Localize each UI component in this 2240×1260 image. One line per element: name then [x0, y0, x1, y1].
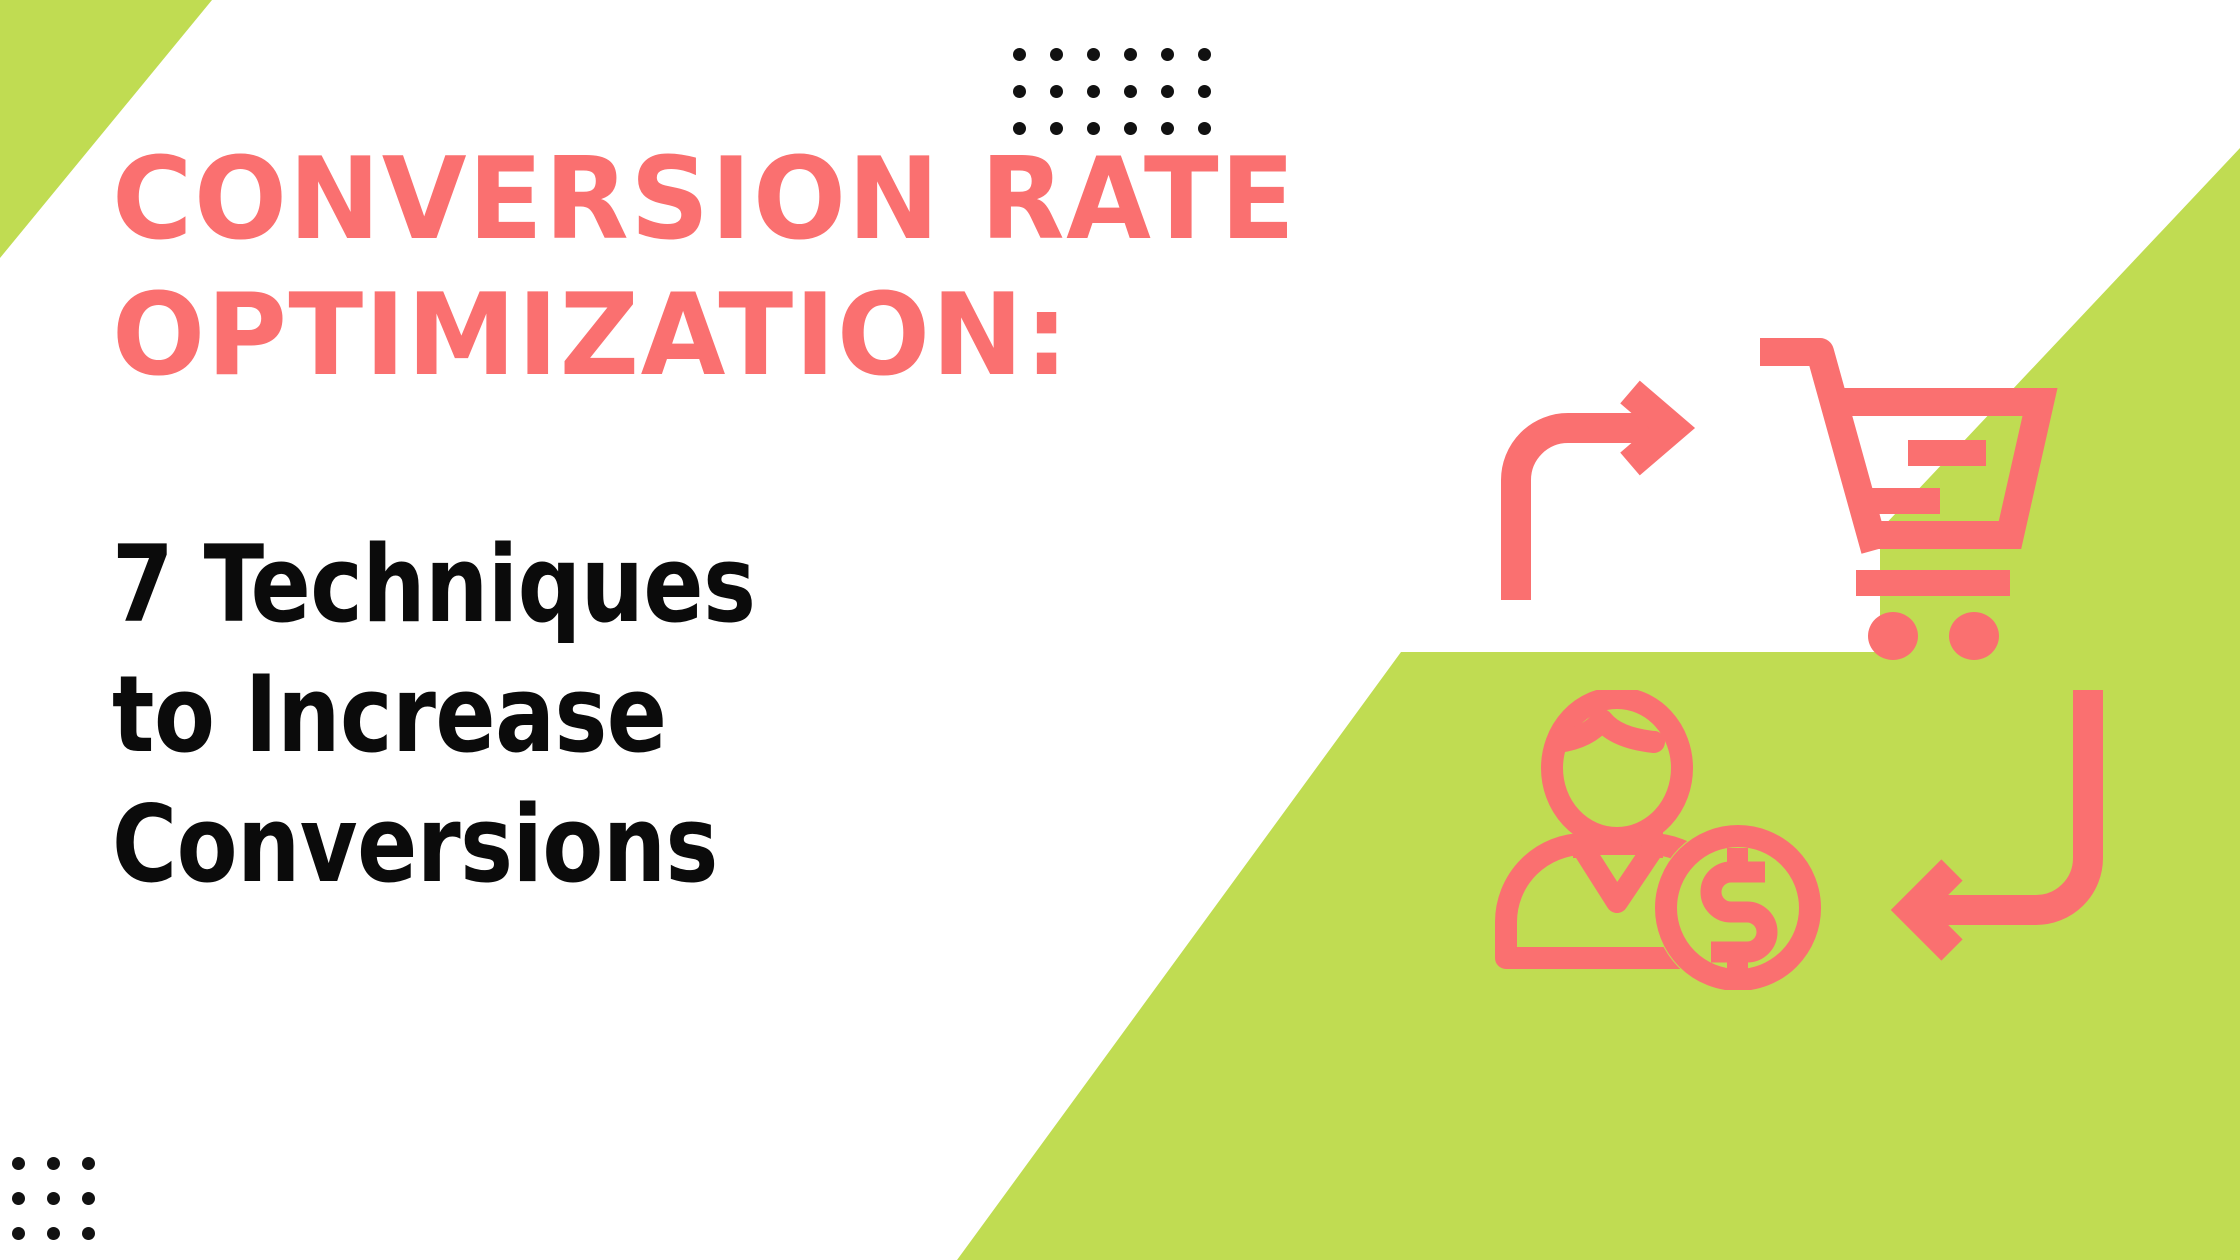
curved-arrow-down-left-icon [1912, 690, 2088, 950]
decor-dot [12, 1157, 25, 1170]
decor-dot [12, 1192, 25, 1205]
subtitle-line-1: 7 Techniques [112, 520, 1042, 650]
decor-dot [47, 1157, 60, 1170]
decor-dot [47, 1227, 60, 1240]
icon-cluster-upper [1480, 330, 2100, 750]
decor-dot [1161, 85, 1174, 98]
subtitle-block: 7 Techniques to Increase Conversions [112, 520, 1112, 910]
subtitle-line-2: to Increase [112, 650, 1042, 780]
decor-dot [1161, 48, 1174, 61]
decor-dot [82, 1157, 95, 1170]
decor-dot [1050, 85, 1063, 98]
decor-dot [82, 1192, 95, 1205]
person-with-dollar-coin-icon [1506, 698, 1822, 990]
headline-line-1: CONVERSION RATE [112, 140, 1179, 258]
decor-dot [82, 1227, 95, 1240]
dot-grid-bottom [12, 1157, 117, 1260]
decor-dot [1124, 48, 1137, 61]
headline-block: CONVERSION RATE OPTIMIZATION: [112, 140, 1212, 394]
decor-dot [1198, 85, 1211, 98]
shopping-cart-icon [1760, 352, 2040, 660]
decor-dot [1087, 85, 1100, 98]
headline-line-2: OPTIMIZATION: [112, 276, 1179, 394]
decor-dot [47, 1192, 60, 1205]
curved-arrow-right-icon [1516, 392, 1672, 600]
icon-cluster-lower [1480, 690, 2120, 990]
subtitle-line-3: Conversions [112, 780, 1042, 910]
decor-dot [1013, 48, 1026, 61]
decor-dot [1050, 48, 1063, 61]
decor-dot [1013, 85, 1026, 98]
poster-canvas: CONVERSION RATE OPTIMIZATION: 7 Techniqu… [0, 0, 2240, 1260]
decor-dot [1124, 85, 1137, 98]
decor-dot [12, 1227, 25, 1240]
decor-dot [1087, 48, 1100, 61]
decor-dot [1198, 48, 1211, 61]
